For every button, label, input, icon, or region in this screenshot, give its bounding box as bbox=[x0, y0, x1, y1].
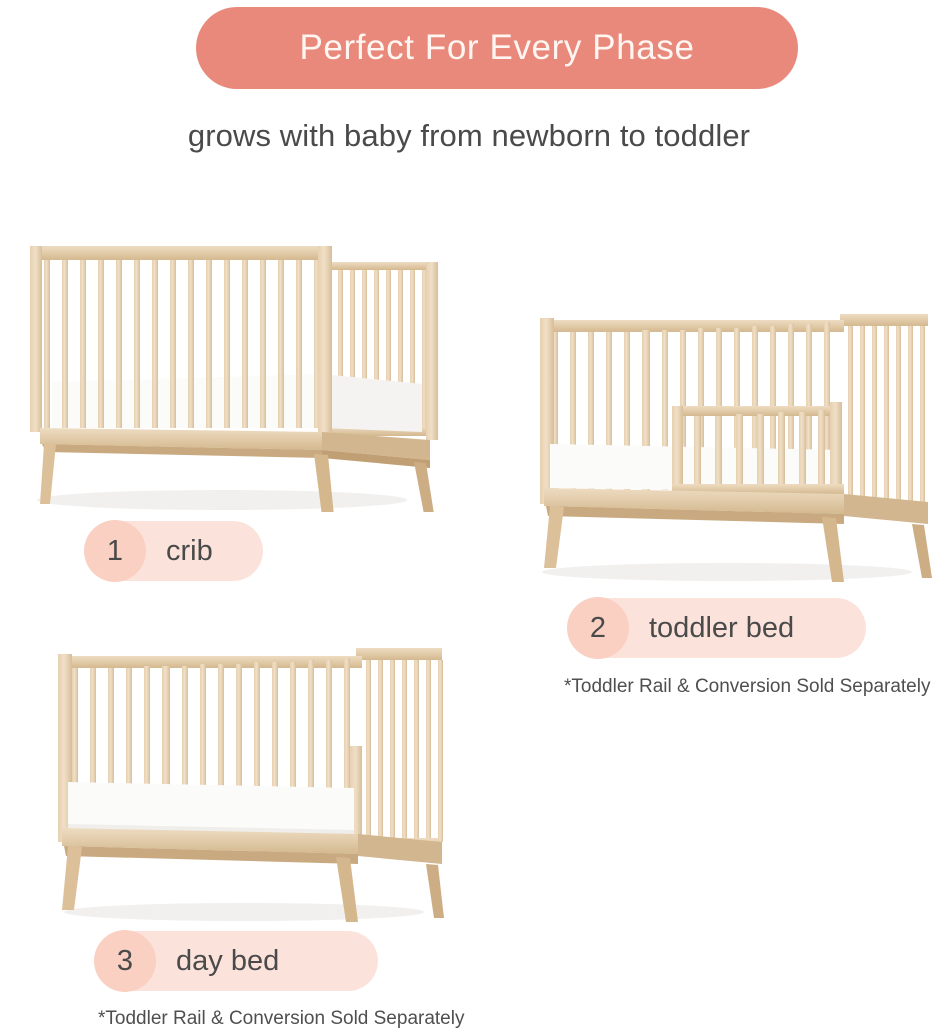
stage-number-1: 1 bbox=[84, 520, 146, 582]
stage-label-toddler-bed[interactable]: 2 toddler bed bbox=[568, 598, 866, 658]
stage-label-crib[interactable]: 1 crib bbox=[85, 521, 263, 581]
crib-leg-front-left bbox=[40, 444, 56, 504]
toddler-far-rail bbox=[840, 314, 928, 514]
day-bed-photo bbox=[44, 634, 444, 924]
toddler-bed-photo bbox=[522, 302, 934, 584]
crib-leg-back-right bbox=[414, 462, 434, 512]
crib-post-left bbox=[30, 246, 42, 432]
stage-number-3: 3 bbox=[94, 930, 156, 992]
footnote-toddler-bed: *Toddler Rail & Conversion Sold Separate… bbox=[564, 676, 930, 698]
toddler-leg-front-left bbox=[544, 506, 564, 568]
crib-photo bbox=[22, 232, 440, 512]
crib-post-right bbox=[318, 246, 332, 442]
stage-number-2: 2 bbox=[567, 597, 629, 659]
stage-label-day-bed[interactable]: 3 day bed bbox=[95, 931, 378, 991]
banner-title: Perfect For Every Phase bbox=[299, 28, 694, 68]
stage-label-text-1: crib bbox=[146, 535, 239, 568]
stage-label-text-2: toddler bed bbox=[629, 612, 820, 645]
header-banner: Perfect For Every Phase bbox=[196, 7, 798, 89]
page-subtitle: grows with baby from newborn to toddler bbox=[0, 118, 938, 154]
daybed-far-rail bbox=[356, 648, 443, 850]
toddler-safety-rail bbox=[672, 402, 844, 498]
footnote-day-bed: *Toddler Rail & Conversion Sold Separate… bbox=[98, 1008, 464, 1030]
stage-label-text-3: day bed bbox=[156, 945, 305, 978]
daybed-leg-front-left bbox=[62, 846, 82, 910]
